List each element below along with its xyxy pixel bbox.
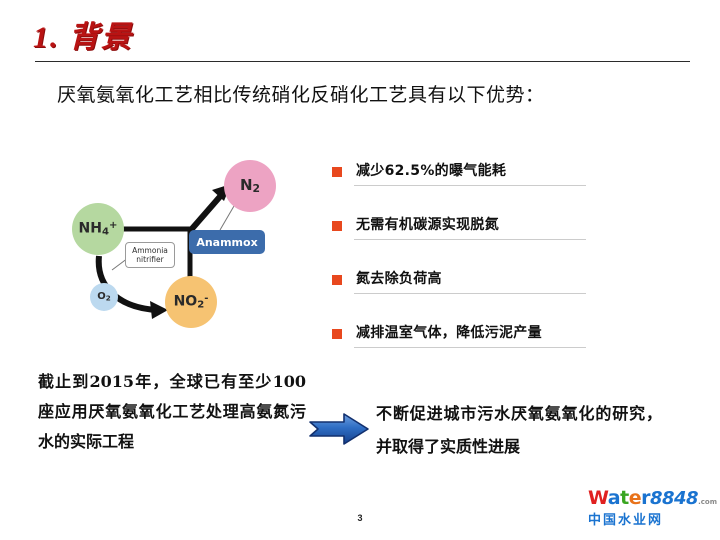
nitrifier-line-2: nitrifier <box>136 255 163 264</box>
logo-letter-a: a <box>608 487 620 509</box>
bullet-label: 减少62.5%的曝气能耗 <box>356 160 506 180</box>
list-item: 氮去除负荷高 <box>330 268 600 322</box>
bullet-label: 氮去除负荷高 <box>356 268 442 288</box>
right-arrow-icon <box>308 412 370 446</box>
diagram-node-o2: O2 <box>90 283 118 311</box>
nitrifier-line-1: Ammonia <box>132 246 168 255</box>
bottom-left-paragraph: 截止到2015年，全球已有至少100座应用厌氧氨氧化工艺处理高氨氮污水的实际工程 <box>38 367 306 457</box>
bullet-label: 无需有机碳源实现脱氮 <box>356 214 499 234</box>
bullet-square-icon <box>332 221 342 231</box>
diagram-label-ammonia-nitrifier: Ammonia nitrifier <box>125 242 175 268</box>
diagram-node-no2: NO2- <box>165 276 217 328</box>
bullet-label: 减排温室气体，降低污泥产量 <box>356 322 542 342</box>
bullet-underline <box>354 293 586 294</box>
logo-chinese-name: 中国水业网 <box>588 512 708 529</box>
advantages-bullet-list: 减少62.5%的曝气能耗 无需有机碳源实现脱氮 氮去除负荷高 减排温室气体，降低… <box>330 160 600 376</box>
subtitle-text: 厌氧氨氧化工艺相比传统硝化反硝化工艺具有以下优势： <box>57 80 545 107</box>
logo-number: 8848 <box>650 488 698 509</box>
diagram-label-anammox: Anammox <box>189 230 265 254</box>
bullet-square-icon <box>332 167 342 177</box>
logo-letter-r: r <box>641 487 650 509</box>
logo-dotcom: .com <box>698 498 717 506</box>
logo-letter-e: e <box>629 487 641 509</box>
bullet-square-icon <box>332 329 342 339</box>
bullet-underline <box>354 347 586 348</box>
logo-wordmark: Water8848.com <box>588 488 708 512</box>
list-item: 减排温室气体，降低污泥产量 <box>330 322 600 376</box>
logo-letter-t: t <box>620 487 629 509</box>
logo-letter-w: W <box>588 487 608 509</box>
diagram-node-nh4: NH4+ <box>72 203 124 255</box>
bottom-right-paragraph: 不断促进城市污水厌氧氨氧化的研究，并取得了实质性进展 <box>376 397 662 463</box>
bullet-underline <box>354 239 586 240</box>
anammox-pathway-diagram: NH4+ N2 NO2- O2 Anammox Ammonia nitrifie… <box>72 158 298 336</box>
watermark-logo: Water8848.com 中国水业网 <box>588 488 708 532</box>
list-item: 减少62.5%的曝气能耗 <box>330 160 600 214</box>
bullet-square-icon <box>332 275 342 285</box>
page-title: 1. 背景 <box>33 12 133 56</box>
diagram-node-n2: N2 <box>224 160 276 212</box>
title-divider <box>35 61 690 62</box>
list-item: 无需有机碳源实现脱氮 <box>330 214 600 268</box>
bullet-underline <box>354 185 586 186</box>
slide-canvas: 1. 背景 厌氧氨氧化工艺相比传统硝化反硝化工艺具有以下优势： NH4+ N2 <box>0 0 720 540</box>
